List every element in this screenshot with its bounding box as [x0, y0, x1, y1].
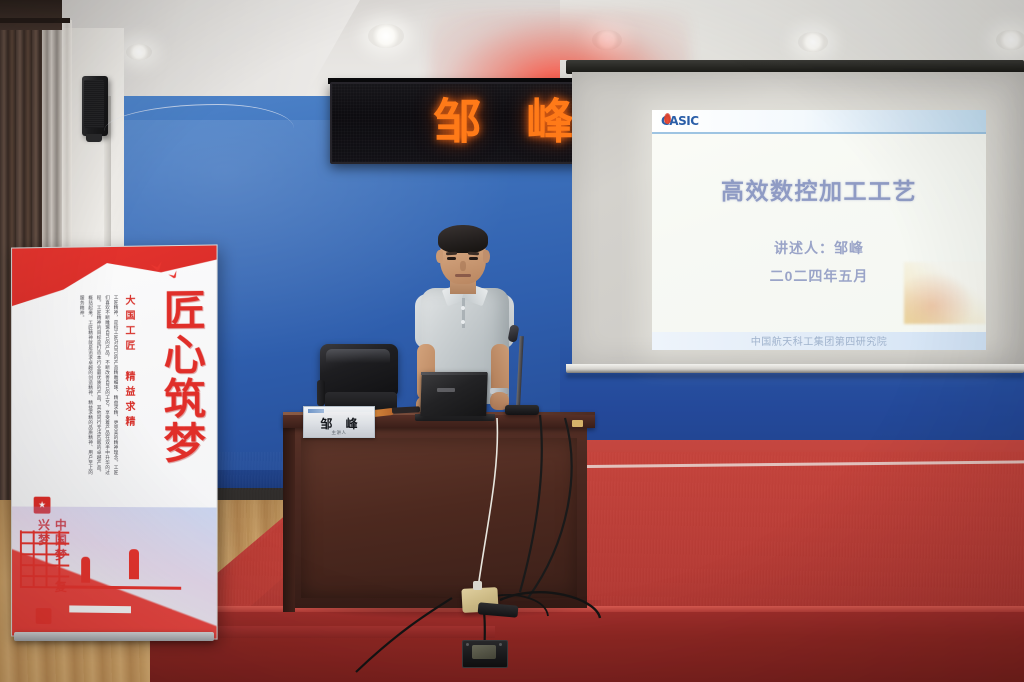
power-plug-icon — [473, 581, 482, 590]
slide-footer-text: 中国航天科工集团第四研究院 — [652, 333, 986, 348]
speaker-grille-icon — [84, 80, 104, 128]
rollup-banner: 匠心筑梦 大国工匠 精益求精 工匠精神，是指工匠对自己的产品精雕细琢、精益求精、… — [11, 244, 218, 639]
banner-body-text: 工匠精神，是指工匠对自己的产品精雕细琢、精益求精、更完美的精神理念。工匠们喜欢不… — [48, 295, 119, 475]
speaker-bracket — [86, 134, 102, 142]
led-scrolling-sign: 邹 峰 — [330, 82, 584, 164]
banner-art-highlight — [69, 605, 131, 613]
lecture-hall-scene: 邹 峰 CASIC 高效数控加工工艺 讲述人：邹峰 二0二四年五月 中国航天科工… — [0, 0, 1024, 682]
eye-right — [469, 257, 478, 260]
downlight-icon — [798, 32, 828, 52]
worker-silhouette-icon — [81, 557, 90, 583]
bird-icon — [168, 271, 179, 280]
banner-stand-base — [14, 632, 214, 641]
led-sign-text: 邹 峰 — [433, 88, 584, 156]
shirt-button — [461, 320, 465, 324]
outlet-socket-icon — [472, 645, 496, 659]
stage-step — [195, 626, 495, 638]
banner-title: 匠心筑梦 — [144, 288, 202, 465]
slide-date-line: 二0二四年五月 — [652, 266, 986, 286]
slide-header-rule — [652, 132, 986, 134]
desk-front-panel — [301, 438, 577, 598]
projected-slide: CASIC 高效数控加工工艺 讲述人：邹峰 二0二四年五月 中国航天科工集团第四… — [652, 110, 986, 350]
mouth — [455, 274, 471, 277]
scaffold-graphic — [20, 530, 69, 588]
laptop-logo — [437, 388, 455, 392]
slide-header-band — [652, 110, 986, 132]
slide-presenter-line: 讲述人：邹峰 — [652, 238, 986, 258]
nose — [460, 261, 466, 271]
worker-silhouette-icon — [129, 549, 139, 579]
banner-subtitle: 大国工匠 精益求精 — [121, 295, 136, 431]
slide-title: 高效数控加工工艺 — [652, 172, 986, 206]
ear-left — [436, 250, 443, 263]
curtain-header — [0, 0, 62, 30]
chair-highlight — [326, 349, 390, 363]
microphone-base[interactable] — [505, 405, 539, 415]
curtain-rod — [0, 18, 70, 23]
outlet-screw — [499, 643, 502, 646]
downlight-icon — [126, 44, 152, 60]
chair-armrest — [317, 380, 325, 406]
nameplate-subtitle: 主讲人 — [304, 430, 374, 436]
hair — [438, 225, 488, 253]
stage-front-face — [150, 612, 1024, 682]
screen-shadow — [566, 373, 1024, 378]
nameplate-logo-icon — [308, 409, 324, 413]
laptop-lid-edge — [421, 372, 487, 375]
eye-left — [447, 257, 456, 260]
laptop[interactable] — [420, 372, 488, 416]
downlight-icon — [368, 24, 404, 48]
outlet-screw — [466, 643, 469, 646]
shirt-button — [461, 306, 465, 310]
desk-side-panel — [283, 420, 295, 612]
ear-right — [483, 250, 490, 263]
desk-badge — [572, 420, 583, 427]
screen-bottom-bar — [566, 364, 1024, 373]
desk-nameplate: 邹 峰 主讲人 — [303, 406, 375, 438]
downlight-icon — [996, 30, 1024, 50]
casic-flame-icon — [664, 113, 671, 124]
